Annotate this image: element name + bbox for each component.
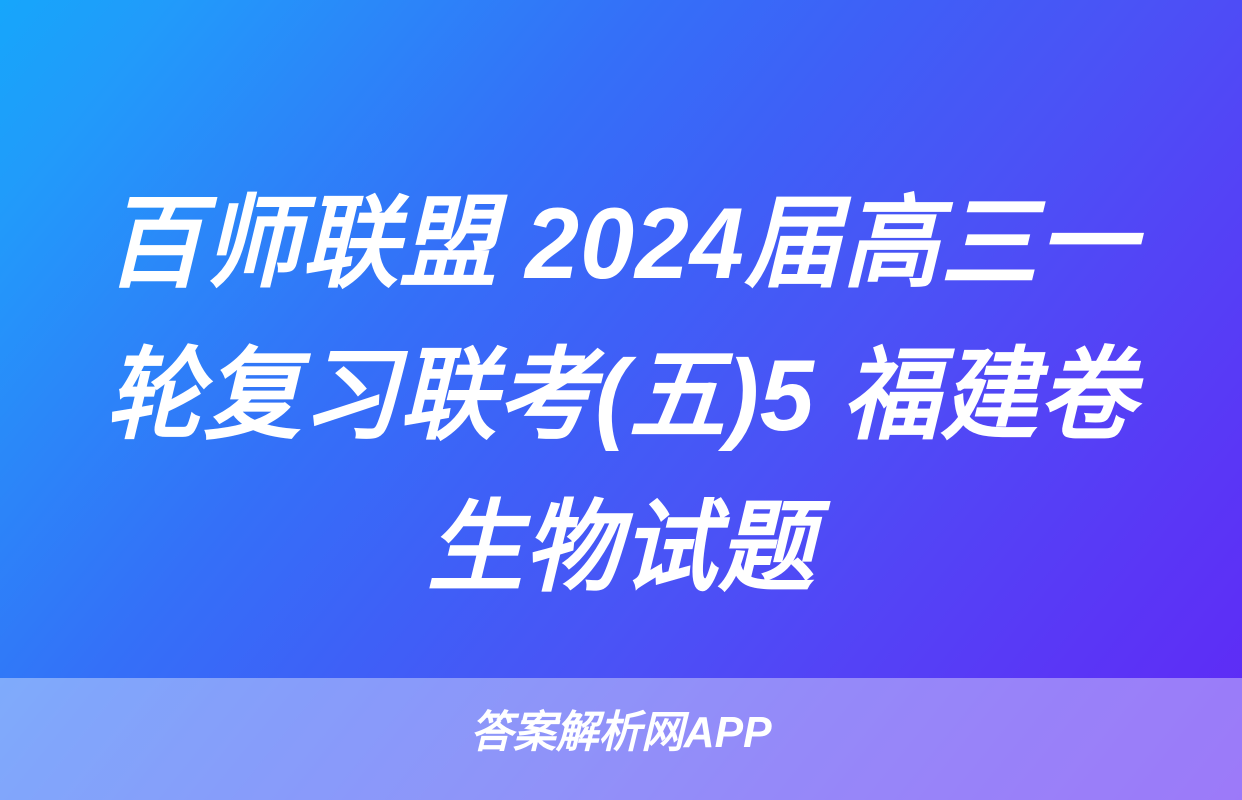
title-line-3: 生物试题 xyxy=(25,472,1217,624)
title-line-2: 轮复习联考(五)5 福建卷 xyxy=(25,320,1217,472)
app-watermark: 答案解析网APP xyxy=(19,705,1224,761)
page-title: 百师联盟 2024届高三一 轮复习联考(五)5 福建卷 生物试题 xyxy=(0,168,1242,624)
title-line-1: 百师联盟 2024届高三一 xyxy=(25,168,1217,320)
exam-cover-banner: 百师联盟 2024届高三一 轮复习联考(五)5 福建卷 生物试题 答案解析网AP… xyxy=(0,0,1242,800)
